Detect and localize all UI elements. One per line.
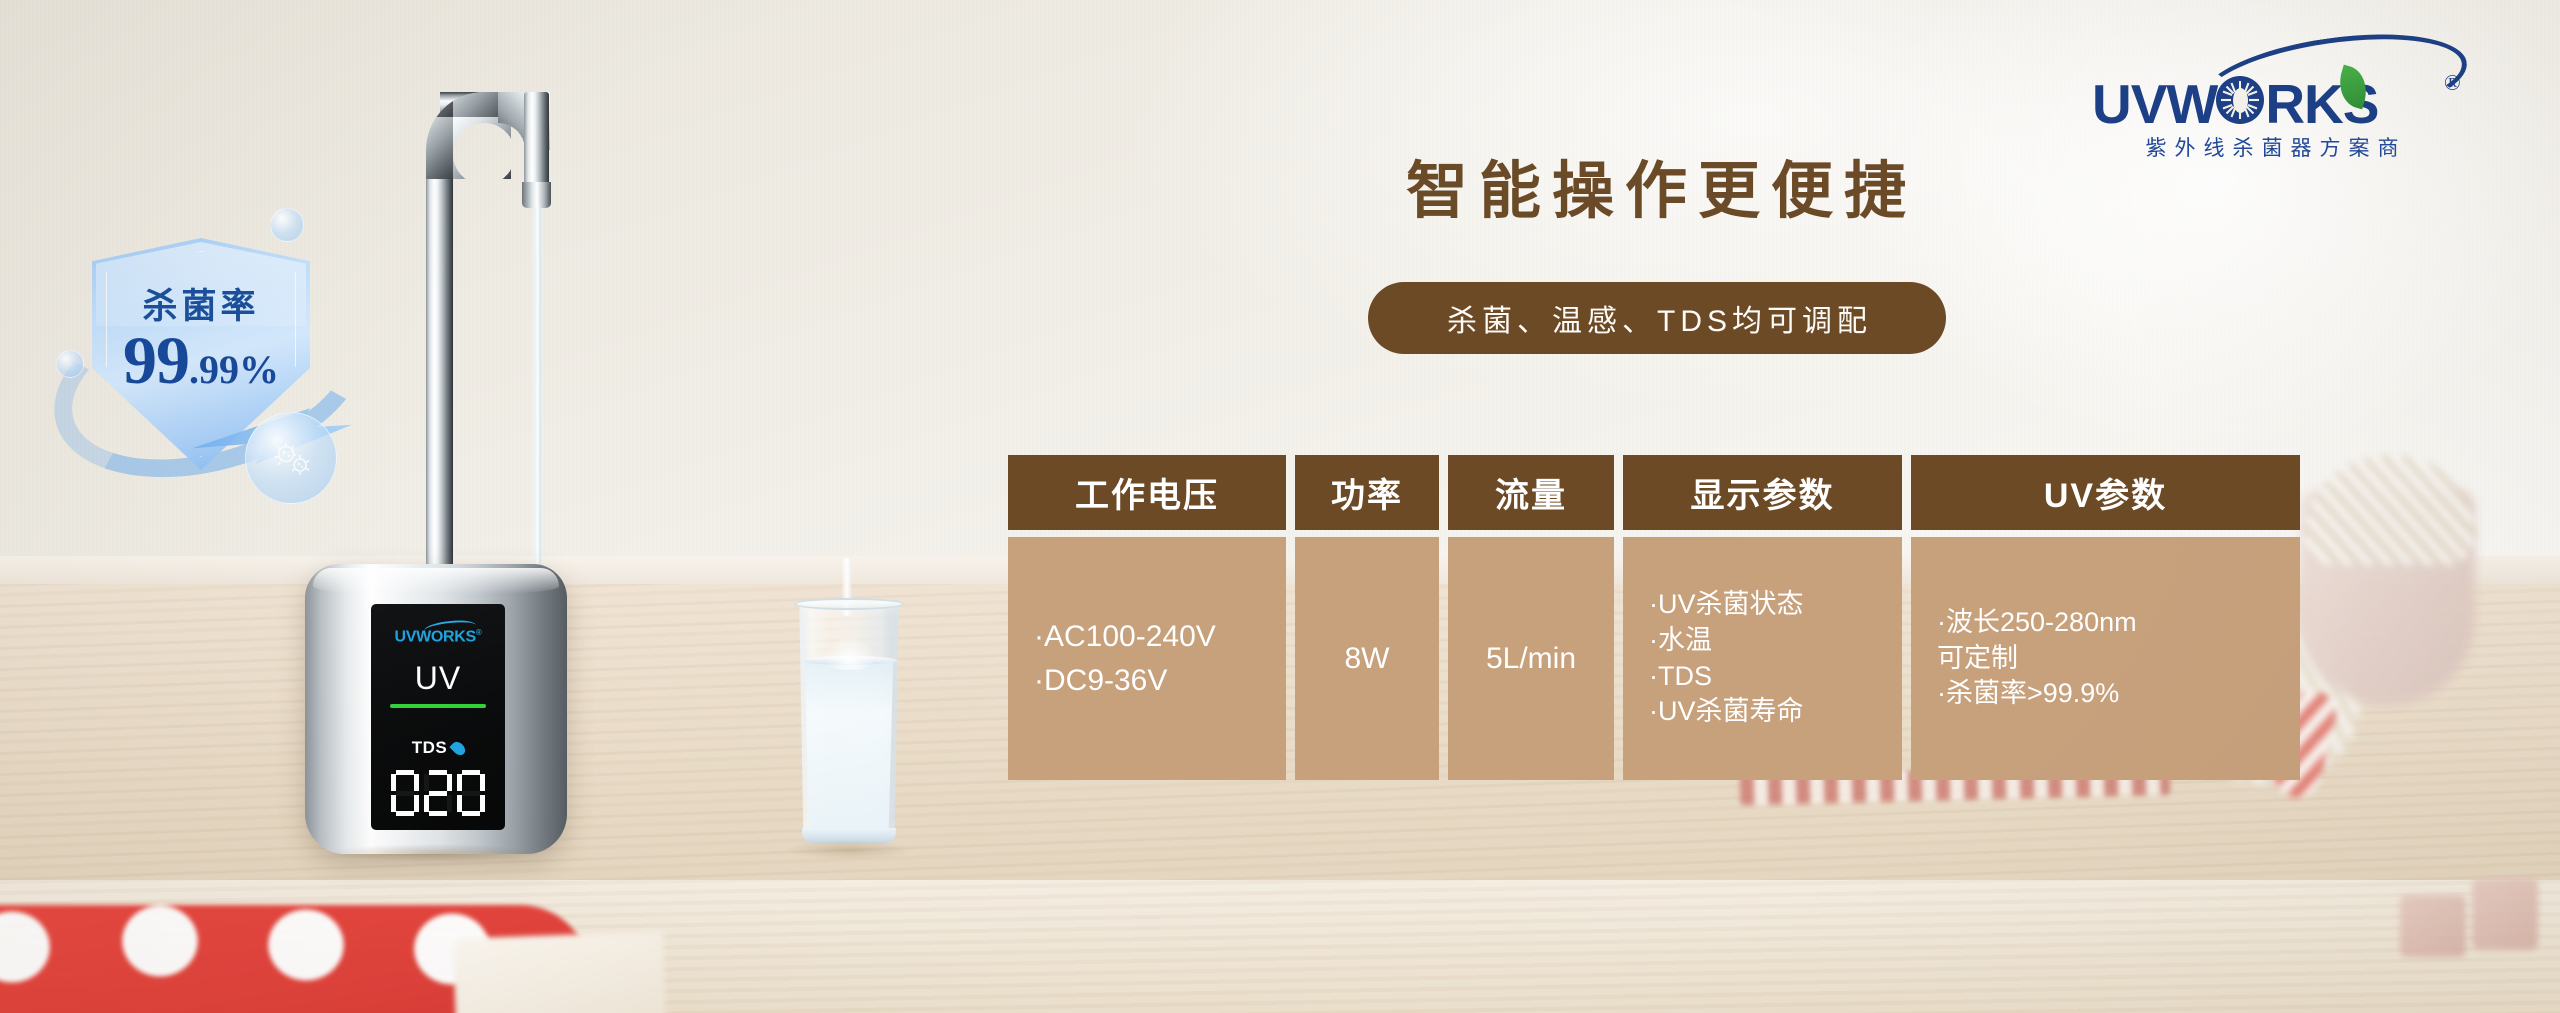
badge-rate: 99.99% bbox=[92, 326, 310, 394]
spec-header-cell: 流量 bbox=[1448, 455, 1614, 530]
device-tds-row: TDS bbox=[412, 738, 465, 758]
spec-line: 8W bbox=[1345, 637, 1390, 681]
glass-shadow bbox=[786, 840, 912, 860]
faucet-right-column bbox=[524, 92, 549, 192]
uv-device: UVWORKS® UV TDS bbox=[305, 564, 567, 854]
spec-header-cell: 工作电压 bbox=[1008, 455, 1286, 530]
badge-rate-minor: .99% bbox=[189, 347, 279, 392]
spec-table-header-row: 工作电压 功率 流量 显示参数 UV参数 bbox=[1008, 455, 2300, 530]
spec-line: ·DC9-36V bbox=[1034, 659, 1167, 703]
water-drop-icon bbox=[450, 739, 468, 757]
spec-line: ·杀菌率>99.9% bbox=[1937, 676, 2119, 712]
spec-table: 工作电压 功率 流量 显示参数 UV参数 ·AC100-240V ·DC9-36… bbox=[1008, 455, 2300, 780]
device-shadow bbox=[329, 844, 543, 862]
faucet-elbow-left bbox=[426, 92, 484, 154]
spec-header-cell: 功率 bbox=[1295, 455, 1439, 530]
seven-segment-digit bbox=[391, 770, 419, 816]
logo-tagline: 紫外线杀菌器方案商 bbox=[2096, 132, 2448, 162]
device-display: UVWORKS® UV TDS bbox=[371, 604, 505, 830]
spec-line: ·AC100-240V bbox=[1034, 615, 1216, 659]
logo-wordmark: UVW bbox=[2092, 72, 2452, 136]
banner-stage: UVWORKS® UV TDS bbox=[0, 0, 2560, 1013]
seven-segment-digit bbox=[424, 770, 452, 816]
glass-splash bbox=[824, 636, 876, 670]
spec-header-cell: 显示参数 bbox=[1623, 455, 1902, 530]
decor-block bbox=[2400, 895, 2466, 957]
device-logo-registered: ® bbox=[476, 628, 482, 637]
spec-body-cell: ·AC100-240V ·DC9-36V bbox=[1008, 537, 1286, 780]
sterilization-badge: 杀菌率 99.99% bbox=[30, 150, 380, 500]
glass-rim bbox=[794, 598, 904, 610]
device-tds-label: TDS bbox=[412, 738, 448, 758]
feature-pill: 杀菌、温感、TDS均可调配 bbox=[1368, 282, 1946, 354]
feature-pill-label: 杀菌、温感、TDS均可调配 bbox=[1442, 296, 1872, 340]
spec-line: 可定制 bbox=[1937, 641, 2018, 677]
seven-segment-digit bbox=[457, 770, 485, 816]
spec-line: ·UV杀菌状态 bbox=[1649, 587, 1804, 623]
badge-rate-major: 99 bbox=[123, 322, 189, 398]
faucet-spout bbox=[522, 182, 551, 208]
spec-body-cell: 5L/min bbox=[1448, 537, 1614, 780]
spec-body-cell: 8W bbox=[1295, 537, 1439, 780]
spec-line: 5L/min bbox=[1486, 637, 1576, 681]
germ-icon bbox=[273, 440, 315, 478]
registered-mark: ® bbox=[2444, 70, 2461, 96]
bubble-icon bbox=[270, 208, 304, 242]
spec-header-cell: UV参数 bbox=[1911, 455, 2300, 530]
page-title: 智能操作更便捷 bbox=[1366, 140, 1946, 230]
sunburst-icon bbox=[2216, 73, 2266, 123]
spec-line: ·TDS bbox=[1649, 659, 1712, 695]
spec-table-body-row: ·AC100-240V ·DC9-36V 8W 5L/min ·UV杀菌状态 ·… bbox=[1008, 537, 2300, 780]
spec-body-cell: ·波长250-280nm 可定制 ·杀菌率>99.9% bbox=[1911, 537, 2300, 780]
brand-logo: UVW bbox=[2092, 32, 2482, 152]
spec-body-cell: ·UV杀菌状态 ·水温 ·TDS ·UV杀菌寿命 bbox=[1623, 537, 1902, 780]
device-screen-logo: UVWORKS® bbox=[394, 628, 481, 646]
decor-white-cloth bbox=[453, 931, 667, 1013]
device-tds-value bbox=[391, 770, 485, 816]
device-mode-label: UV bbox=[415, 662, 461, 694]
water-glass bbox=[790, 600, 908, 850]
faucet-left-column bbox=[426, 150, 453, 580]
spec-line: ·波长250-280nm bbox=[1937, 605, 2137, 641]
spec-line: ·UV杀菌寿命 bbox=[1649, 694, 1804, 730]
device-status-bar bbox=[390, 704, 486, 708]
bubble-icon bbox=[56, 350, 84, 378]
decor-block bbox=[2472, 878, 2538, 950]
glass-water bbox=[802, 660, 896, 838]
spec-line: ·水温 bbox=[1649, 623, 1712, 659]
device-highlight bbox=[313, 568, 559, 594]
